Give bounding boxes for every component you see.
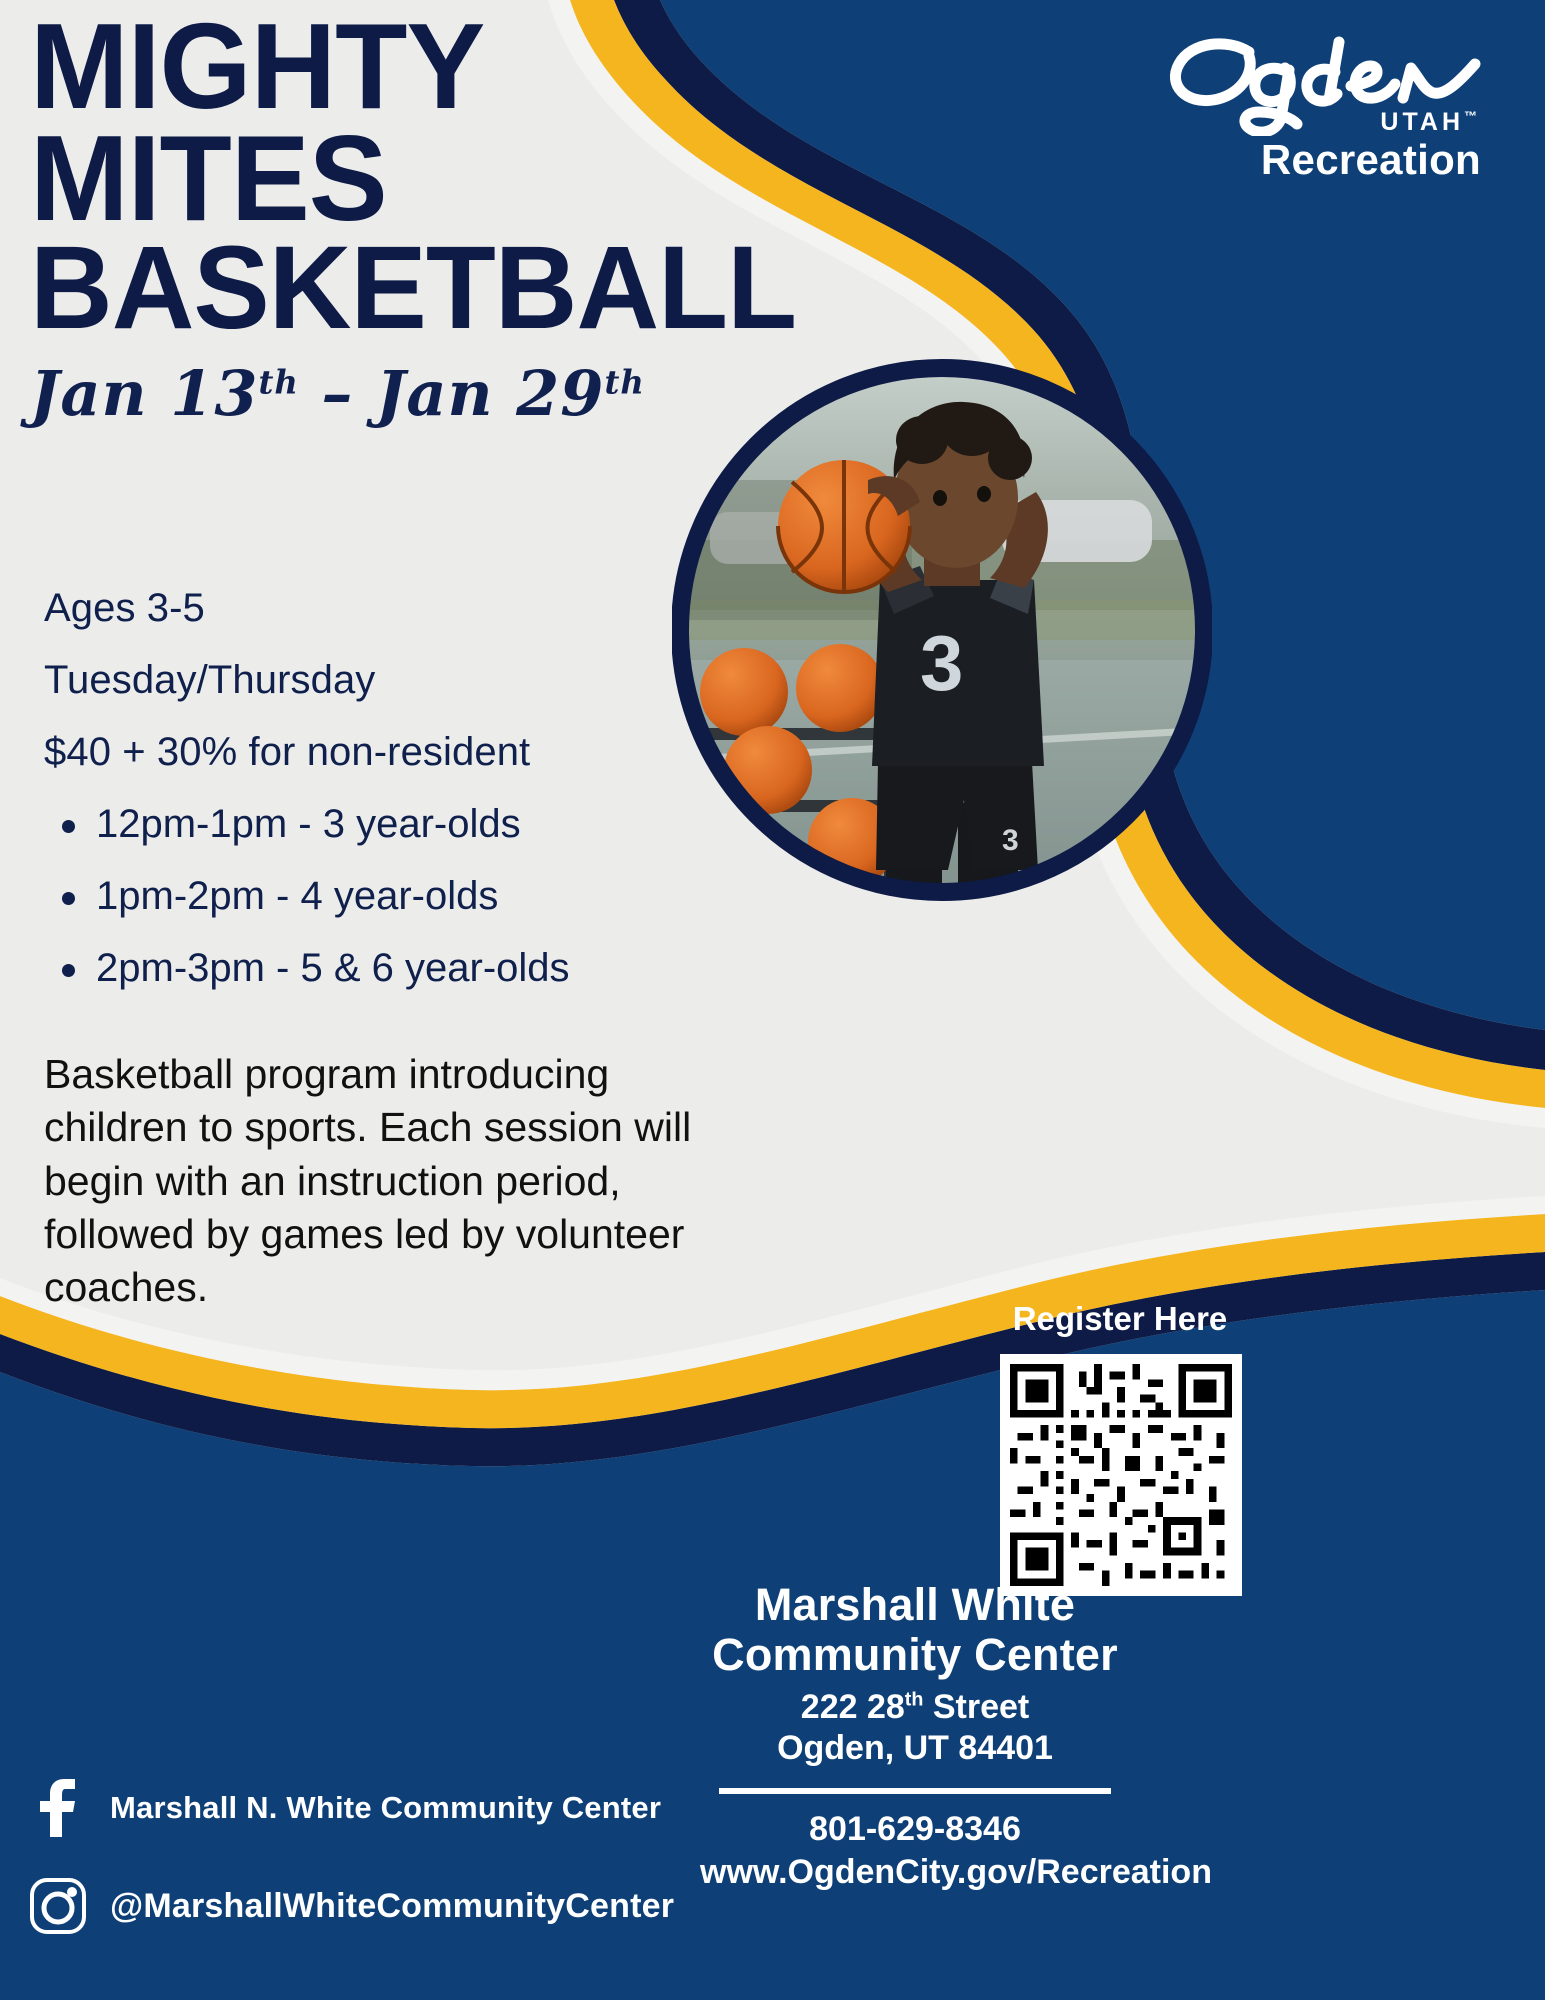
venue-city: Ogden, UT 84401 [700, 1728, 1130, 1769]
venue-street: 222 28th Street [700, 1687, 1130, 1728]
footer-divider [719, 1788, 1111, 1794]
title-line-1: MIGHTY [30, 10, 767, 122]
time-slot-list: 12pm-1pm - 3 year-olds 1pm-2pm - 4 year-… [44, 804, 734, 988]
social-row-instagram[interactable]: @MarshallWhiteCommunityCenter [28, 1876, 674, 1936]
ogden-recreation-logo: UTAH™ Recreation [1163, 30, 1483, 136]
logo-department-label: Recreation [1261, 136, 1481, 184]
date-separator: – [321, 357, 353, 430]
flyer-poster: 3 3 [0, 0, 1545, 2000]
svg-text:3: 3 [920, 619, 963, 707]
date-start-month: Jan [30, 357, 148, 430]
date-end-suffix: th [604, 363, 644, 401]
date-end-month: Jan [376, 357, 494, 430]
detail-price: $40 + 30% for non-resident [44, 732, 734, 772]
time-slot-item: 12pm-1pm - 3 year-olds [96, 804, 734, 844]
venue-name-line-2: Community Center [700, 1630, 1130, 1680]
social-row-facebook[interactable]: Marshall N. White Community Center [28, 1778, 674, 1838]
register-here-label: Register Here [1000, 1300, 1240, 1338]
svg-text:3: 3 [1002, 824, 1019, 857]
instagram-label: @MarshallWhiteCommunityCenter [110, 1887, 674, 1926]
register-section: Register Here [1000, 1300, 1240, 1596]
logo-state-label: UTAH™ [1380, 108, 1477, 137]
detail-ages: Ages 3-5 [44, 588, 734, 628]
qr-code[interactable] [1000, 1354, 1242, 1596]
social-links: Marshall N. White Community Center @Mars… [28, 1778, 674, 1974]
facebook-icon [28, 1778, 88, 1838]
date-end-day: 29 [516, 357, 604, 430]
program-details: Ages 3-5 Tuesday/Thursday $40 + 30% for … [44, 588, 734, 1020]
time-slot-item: 2pm-3pm - 5 & 6 year-olds [96, 948, 734, 988]
date-range: Jan 13th – Jan 29th [30, 357, 790, 430]
detail-days: Tuesday/Thursday [44, 660, 734, 700]
date-start-suffix: th [258, 363, 298, 401]
title-block: MIGHTY MITES BASKETBALL Jan 13th – Jan 2… [30, 10, 790, 430]
time-slot-item: 1pm-2pm - 4 year-olds [96, 876, 734, 916]
venue-website[interactable]: www.OgdenCity.gov/Recreation [700, 1851, 1130, 1895]
instagram-icon [28, 1876, 88, 1936]
title-line-3: BASKETBALL [30, 234, 767, 343]
venue-info: Marshall White Community Center 222 28th… [700, 1580, 1130, 1895]
title-line-2: MITES [30, 122, 767, 234]
venue-address: 222 28th Street Ogden, UT 84401 [700, 1687, 1130, 1770]
qr-code-image [1010, 1364, 1232, 1586]
venue-contact: 801-629-8346 www.OgdenCity.gov/Recreatio… [700, 1808, 1130, 1895]
program-description: Basketball program introducing children … [44, 1048, 734, 1314]
venue-phone[interactable]: 801-629-8346 [700, 1808, 1130, 1852]
date-start-day: 13 [170, 357, 258, 430]
facebook-label: Marshall N. White Community Center [110, 1790, 661, 1826]
